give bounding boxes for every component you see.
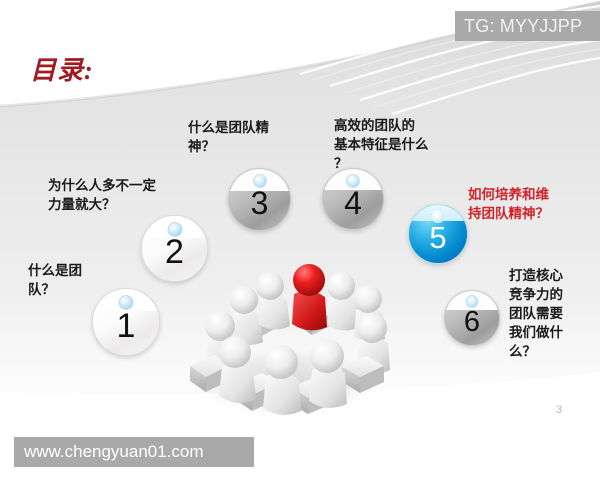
tg-watermark-badge: TG: MYYJJPP (455, 11, 600, 41)
agenda-sphere-6[interactable]: 6 (444, 290, 500, 346)
page-number: 3 (556, 404, 562, 416)
page-title: 目录: (30, 50, 94, 87)
agenda-text-4: 高效的团队的 基本特征是什么 ？ (334, 117, 462, 174)
agenda-sphere-5[interactable]: 5 (408, 204, 468, 264)
sphere-dot-icon (431, 209, 445, 223)
agenda-text-5: 如何培养和维 持团队精神？ (468, 186, 594, 224)
sphere-dot-icon (119, 295, 134, 310)
agenda-sphere-4[interactable]: 4 (322, 168, 384, 230)
sphere-dot-icon (346, 174, 360, 188)
agenda-sphere-2[interactable]: 2 (141, 215, 208, 282)
agenda-sphere-3[interactable]: 3 (228, 168, 291, 231)
agenda-sphere-1[interactable]: 1 (92, 288, 160, 356)
sphere-dot-icon (253, 174, 267, 188)
agenda-text-6: 打造核心 竞争力的 团队需要 我们做什 么？ (509, 267, 600, 362)
sphere-dot-icon (167, 222, 182, 237)
site-watermark: www.chengyuan01.com (14, 437, 254, 467)
sphere-dot-icon (466, 295, 479, 308)
team-illustration (178, 242, 394, 420)
agenda-text-2: 为什么人多不一定 力量就大？ (48, 177, 208, 215)
slide-canvas: TG: MYYJJPP 目录: 什么是团 队？ 为什么人多不一定 力量就大？ 什… (0, 0, 600, 480)
agenda-text-3: 什么是团队精 神？ (188, 119, 323, 157)
